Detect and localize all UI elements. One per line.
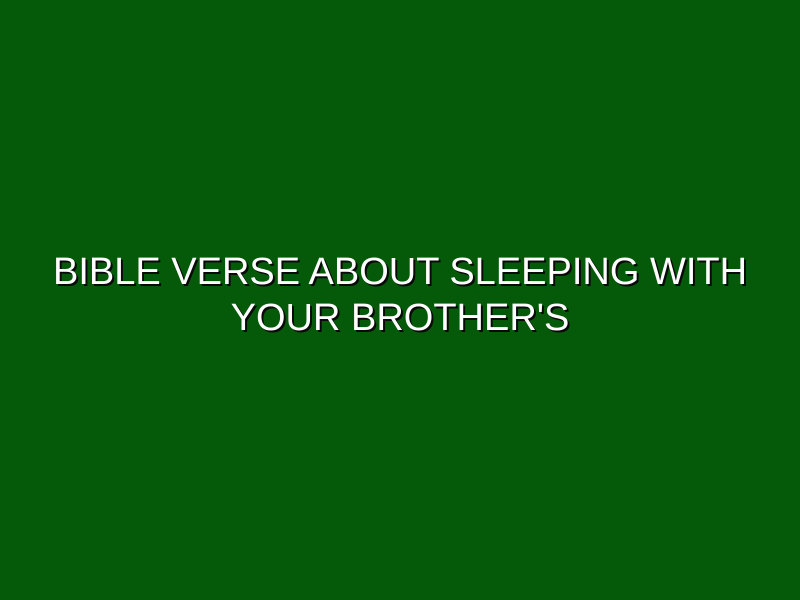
page-title-line-2: YOUR BROTHER'S: [40, 295, 760, 341]
page-title: BIBLE VERSE ABOUT SLEEPING WITH YOUR BRO…: [0, 249, 800, 341]
page-title-line-1: BIBLE VERSE ABOUT SLEEPING WITH: [40, 249, 760, 295]
title-card: BIBLE VERSE ABOUT SLEEPING WITH YOUR BRO…: [0, 0, 800, 600]
